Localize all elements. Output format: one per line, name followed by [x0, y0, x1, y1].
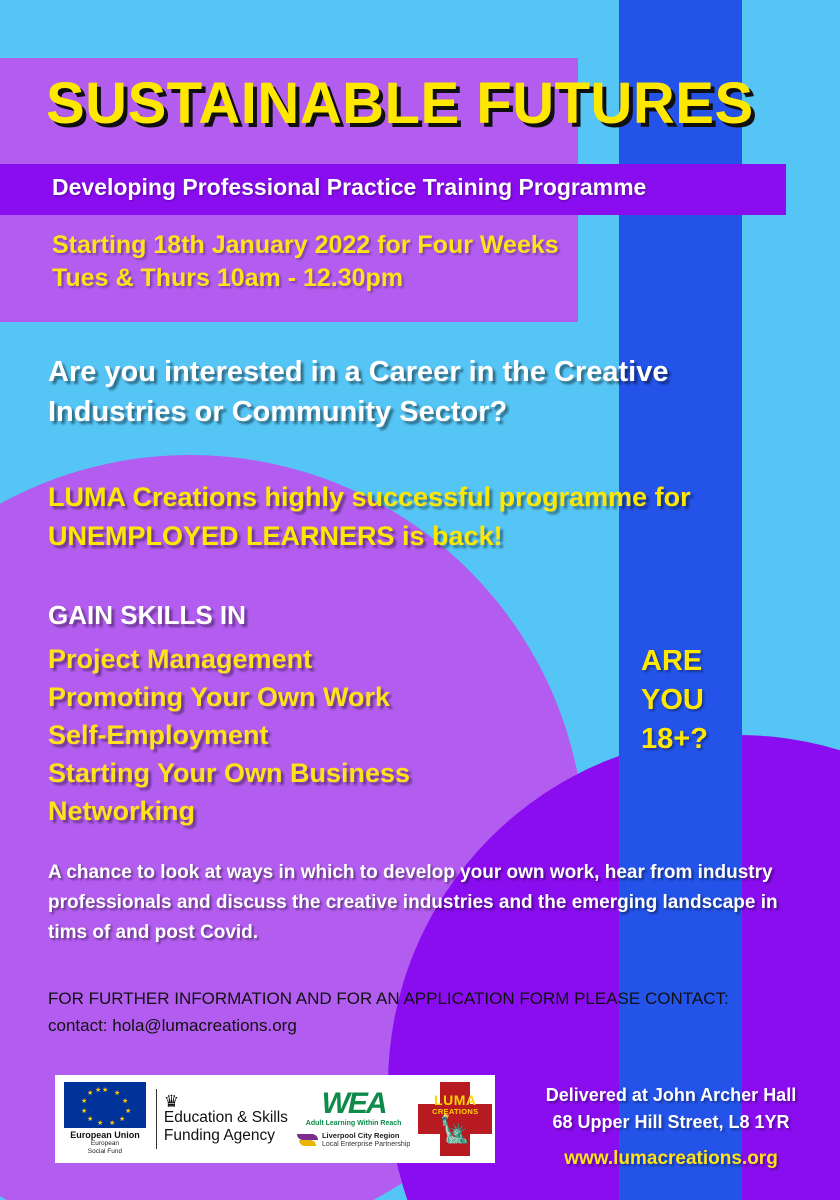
contact-instruction: FOR FURTHER INFORMATION AND FOR AN APPLI…	[48, 985, 808, 1012]
eu-flag-icon: ★ ★ ★ ★ ★ ★ ★ ★ ★ ★ ★ ★	[64, 1082, 146, 1128]
esfa-line-1: Education & Skills	[164, 1109, 288, 1127]
venue-line-2: 68 Upper Hill Street, L8 1YR	[516, 1109, 826, 1136]
wea-logo: WEA Adult Learning Within Reach Liverpoo…	[297, 1089, 410, 1149]
list-item: Starting Your Own Business	[48, 754, 410, 792]
audience-question: Are you interested in a Career in the Cr…	[48, 352, 808, 432]
luma-creations-logo: LUMA CREATIONS 🗽	[418, 1082, 489, 1156]
skills-list: Project Management Promoting Your Own Wo…	[48, 640, 410, 830]
dates-line-2: Tues & Thurs 10am - 12.30pm	[52, 262, 559, 295]
contact-email[interactable]: contact: hola@lumacreations.org	[48, 1012, 808, 1039]
programme-description: A chance to look at ways in which to dev…	[48, 858, 788, 948]
age-badge-line-1: ARE	[641, 642, 708, 681]
logo-divider	[156, 1089, 157, 1149]
page-title: SUSTAINABLE FUTURES	[46, 70, 754, 137]
list-item: Promoting Your Own Work	[48, 678, 410, 716]
lcr-sub: Local Enterprise Partnership	[322, 1141, 410, 1149]
venue-block: Delivered at John Archer Hall 68 Upper H…	[516, 1082, 826, 1136]
age-badge-line-2: YOU	[641, 681, 708, 720]
skills-heading: GAIN SKILLS IN	[48, 600, 246, 631]
age-badge-line-3: 18+?	[641, 720, 708, 759]
dates-block: Starting 18th January 2022 for Four Week…	[52, 229, 559, 295]
list-item: Networking	[48, 792, 410, 830]
poster-canvas: SUSTAINABLE FUTURES Developing Professio…	[0, 0, 840, 1200]
liverpool-city-region-logo: Liverpool City Region Local Enterprise P…	[297, 1132, 410, 1149]
funder-logo-strip: ★ ★ ★ ★ ★ ★ ★ ★ ★ ★ ★ ★ European Union E…	[55, 1075, 495, 1163]
lcr-name: Liverpool City Region	[322, 1132, 410, 1141]
royal-crest-icon: ♛	[164, 1094, 288, 1109]
eu-caption: European Union	[70, 1130, 140, 1140]
wea-wordmark: WEA	[322, 1089, 386, 1119]
swoosh-icon	[297, 1134, 319, 1147]
programme-pitch: LUMA Creations highly successful program…	[48, 478, 808, 556]
eu-sub-line-2: Social Fund	[88, 1148, 122, 1156]
european-union-logo: ★ ★ ★ ★ ★ ★ ★ ★ ★ ★ ★ ★ European Union E…	[61, 1082, 149, 1156]
age-requirement-badge: ARE YOU 18+?	[641, 642, 708, 759]
list-item: Project Management	[48, 640, 410, 678]
page-subtitle: Developing Professional Practice Trainin…	[52, 174, 646, 201]
dates-line-1: Starting 18th January 2022 for Four Week…	[52, 229, 559, 262]
website-link[interactable]: www.lumacreations.org	[516, 1148, 826, 1170]
eu-sub-line-1: European	[91, 1140, 119, 1148]
venue-line-1: Delivered at John Archer Hall	[516, 1082, 826, 1109]
esfa-line-2: Funding Agency	[164, 1127, 288, 1145]
aztec-bird-icon: 🗽	[418, 1116, 492, 1142]
luma-wordmark: LUMA	[418, 1094, 492, 1107]
esfa-logo: ♛ Education & Skills Funding Agency	[164, 1094, 288, 1145]
list-item: Self-Employment	[48, 716, 410, 754]
wea-tagline: Adult Learning Within Reach	[306, 1120, 402, 1127]
contact-block: FOR FURTHER INFORMATION AND FOR AN APPLI…	[48, 985, 808, 1039]
content-layer: SUSTAINABLE FUTURES Developing Professio…	[0, 0, 840, 1200]
